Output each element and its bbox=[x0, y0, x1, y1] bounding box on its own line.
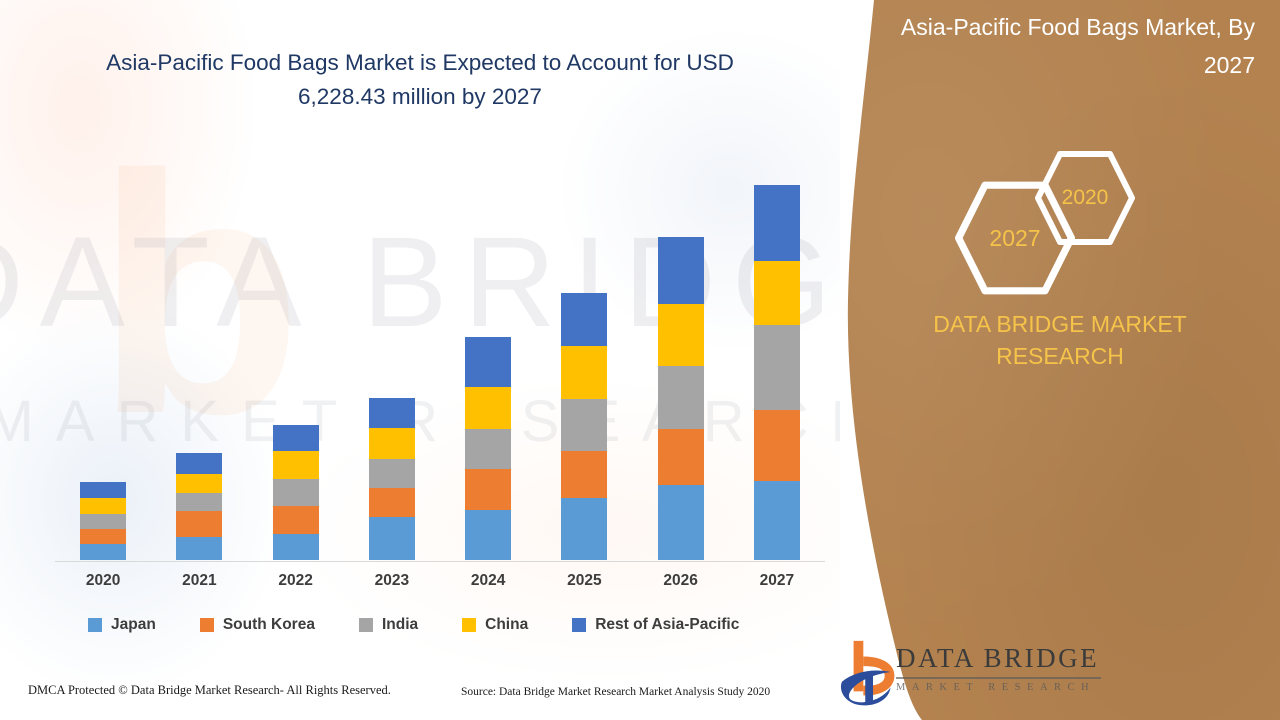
bar-column-2021 bbox=[152, 150, 247, 560]
infographic-root: b DATA BRIDGE MARKET RESEARCH Asia-Pacif… bbox=[0, 0, 1280, 720]
bar-segment-rest-of-asia-pacific bbox=[176, 453, 222, 474]
chart-legend: JapanSouth KoreaIndiaChinaRest of Asia-P… bbox=[88, 616, 783, 634]
bar-segment-japan bbox=[465, 510, 511, 560]
bar-segment-india bbox=[369, 459, 415, 488]
x-axis-label-2023: 2023 bbox=[344, 572, 439, 590]
bar-segment-japan bbox=[273, 534, 319, 560]
bar-segment-rest-of-asia-pacific bbox=[465, 337, 511, 387]
bar-segment-south-korea bbox=[273, 506, 319, 534]
bar-segment-south-korea bbox=[658, 429, 704, 485]
stacked-bar bbox=[80, 482, 126, 560]
bar-column-2026 bbox=[633, 150, 728, 560]
bar-segment-india bbox=[273, 479, 319, 506]
bar-group bbox=[55, 150, 825, 560]
bar-segment-rest-of-asia-pacific bbox=[369, 398, 415, 428]
x-axis-label-2025: 2025 bbox=[537, 572, 632, 590]
bar-segment-india bbox=[176, 493, 222, 511]
logo-wordmark: DATA BRIDGE MARKET RESEARCH bbox=[896, 645, 1101, 693]
bar-segment-south-korea bbox=[369, 488, 415, 517]
chart-plot-area bbox=[55, 150, 825, 562]
x-axis-label-2022: 2022 bbox=[248, 572, 343, 590]
bar-segment-china bbox=[80, 498, 126, 514]
bar-segment-south-korea bbox=[754, 410, 800, 481]
stacked-bar bbox=[561, 293, 607, 560]
chart-title: Asia-Pacific Food Bags Market is Expecte… bbox=[60, 46, 780, 114]
bar-segment-china bbox=[176, 474, 222, 493]
bar-segment-china bbox=[658, 304, 704, 366]
bar-segment-china bbox=[369, 428, 415, 459]
bar-segment-rest-of-asia-pacific bbox=[273, 425, 319, 451]
x-axis-line bbox=[55, 561, 825, 563]
legend-label: India bbox=[382, 616, 418, 634]
company-logo: DATA BRIDGE MARKET RESEARCH bbox=[840, 637, 1280, 709]
legend-swatch-icon bbox=[462, 618, 476, 632]
bar-segment-south-korea bbox=[465, 469, 511, 510]
source-note: Source: Data Bridge Market Research Mark… bbox=[461, 686, 770, 698]
x-axis-label-2021: 2021 bbox=[152, 572, 247, 590]
legend-item-japan[interactable]: Japan bbox=[88, 616, 156, 634]
bar-segment-india bbox=[658, 366, 704, 429]
bar-segment-south-korea bbox=[561, 451, 607, 498]
hexagon-badge-2020: 2020 bbox=[1035, 148, 1135, 248]
bar-segment-india bbox=[754, 325, 800, 410]
dmca-notice: DMCA Protected © Data Bridge Market Rese… bbox=[28, 683, 391, 698]
panel-title: Asia-Pacific Food Bags Market, By 2027 bbox=[900, 8, 1255, 84]
brand-panel: Asia-Pacific Food Bags Market, By 2027 2… bbox=[840, 0, 1280, 720]
bar-segment-rest-of-asia-pacific bbox=[561, 293, 607, 346]
bar-segment-rest-of-asia-pacific bbox=[80, 482, 126, 498]
bar-segment-rest-of-asia-pacific bbox=[658, 237, 704, 304]
legend-item-india[interactable]: India bbox=[359, 616, 418, 634]
bar-segment-india bbox=[80, 514, 126, 529]
bar-segment-south-korea bbox=[176, 511, 222, 537]
chart-panel: b DATA BRIDGE MARKET RESEARCH Asia-Pacif… bbox=[0, 0, 880, 720]
legend-swatch-icon bbox=[572, 618, 586, 632]
logo-divider bbox=[896, 677, 1101, 679]
stacked-bar bbox=[176, 453, 222, 560]
x-axis-label-2027: 2027 bbox=[729, 572, 824, 590]
legend-label: China bbox=[485, 616, 528, 634]
bar-segment-japan bbox=[80, 544, 126, 560]
x-axis-label-2026: 2026 bbox=[633, 572, 728, 590]
logo-sub-text: MARKET RESEARCH bbox=[896, 683, 1101, 694]
legend-item-china[interactable]: China bbox=[462, 616, 528, 634]
bar-column-2023 bbox=[344, 150, 439, 560]
legend-label: Rest of Asia-Pacific bbox=[595, 616, 739, 634]
bar-segment-japan bbox=[561, 498, 607, 560]
bar-segment-japan bbox=[369, 517, 415, 560]
bar-segment-china bbox=[465, 387, 511, 429]
x-axis-labels: 20202021202220232024202520262027 bbox=[55, 572, 825, 590]
x-axis-label-2024: 2024 bbox=[441, 572, 536, 590]
stacked-bar bbox=[658, 237, 704, 560]
x-axis-label-2020: 2020 bbox=[56, 572, 151, 590]
stacked-bar bbox=[369, 398, 415, 560]
bar-segment-japan bbox=[176, 537, 222, 560]
bar-segment-china bbox=[561, 346, 607, 399]
hexagon-label-2020: 2020 bbox=[1035, 148, 1135, 248]
legend-swatch-icon bbox=[359, 618, 373, 632]
stacked-bar bbox=[273, 425, 319, 560]
legend-swatch-icon bbox=[88, 618, 102, 632]
stacked-bar bbox=[465, 337, 511, 560]
bar-segment-china bbox=[754, 261, 800, 325]
legend-label: Japan bbox=[111, 616, 156, 634]
stacked-bar bbox=[754, 185, 800, 560]
legend-item-rest-of-asia-pacific[interactable]: Rest of Asia-Pacific bbox=[572, 616, 739, 634]
legend-label: South Korea bbox=[223, 616, 315, 634]
bar-segment-india bbox=[561, 399, 607, 451]
legend-item-south-korea[interactable]: South Korea bbox=[200, 616, 315, 634]
bar-column-2022 bbox=[248, 150, 343, 560]
bar-segment-south-korea bbox=[80, 529, 126, 544]
logo-main-text: DATA BRIDGE bbox=[896, 645, 1101, 672]
bar-column-2024 bbox=[441, 150, 536, 560]
bar-segment-rest-of-asia-pacific bbox=[754, 185, 800, 261]
bar-segment-china bbox=[273, 451, 319, 479]
bar-column-2020 bbox=[56, 150, 151, 560]
bar-segment-japan bbox=[658, 485, 704, 560]
brand-name: DATA BRIDGE MARKET RESEARCH bbox=[880, 308, 1240, 372]
legend-swatch-icon bbox=[200, 618, 214, 632]
bar-column-2027 bbox=[729, 150, 824, 560]
bar-column-2025 bbox=[537, 150, 632, 560]
bar-segment-india bbox=[465, 429, 511, 469]
bar-segment-japan bbox=[754, 481, 800, 560]
